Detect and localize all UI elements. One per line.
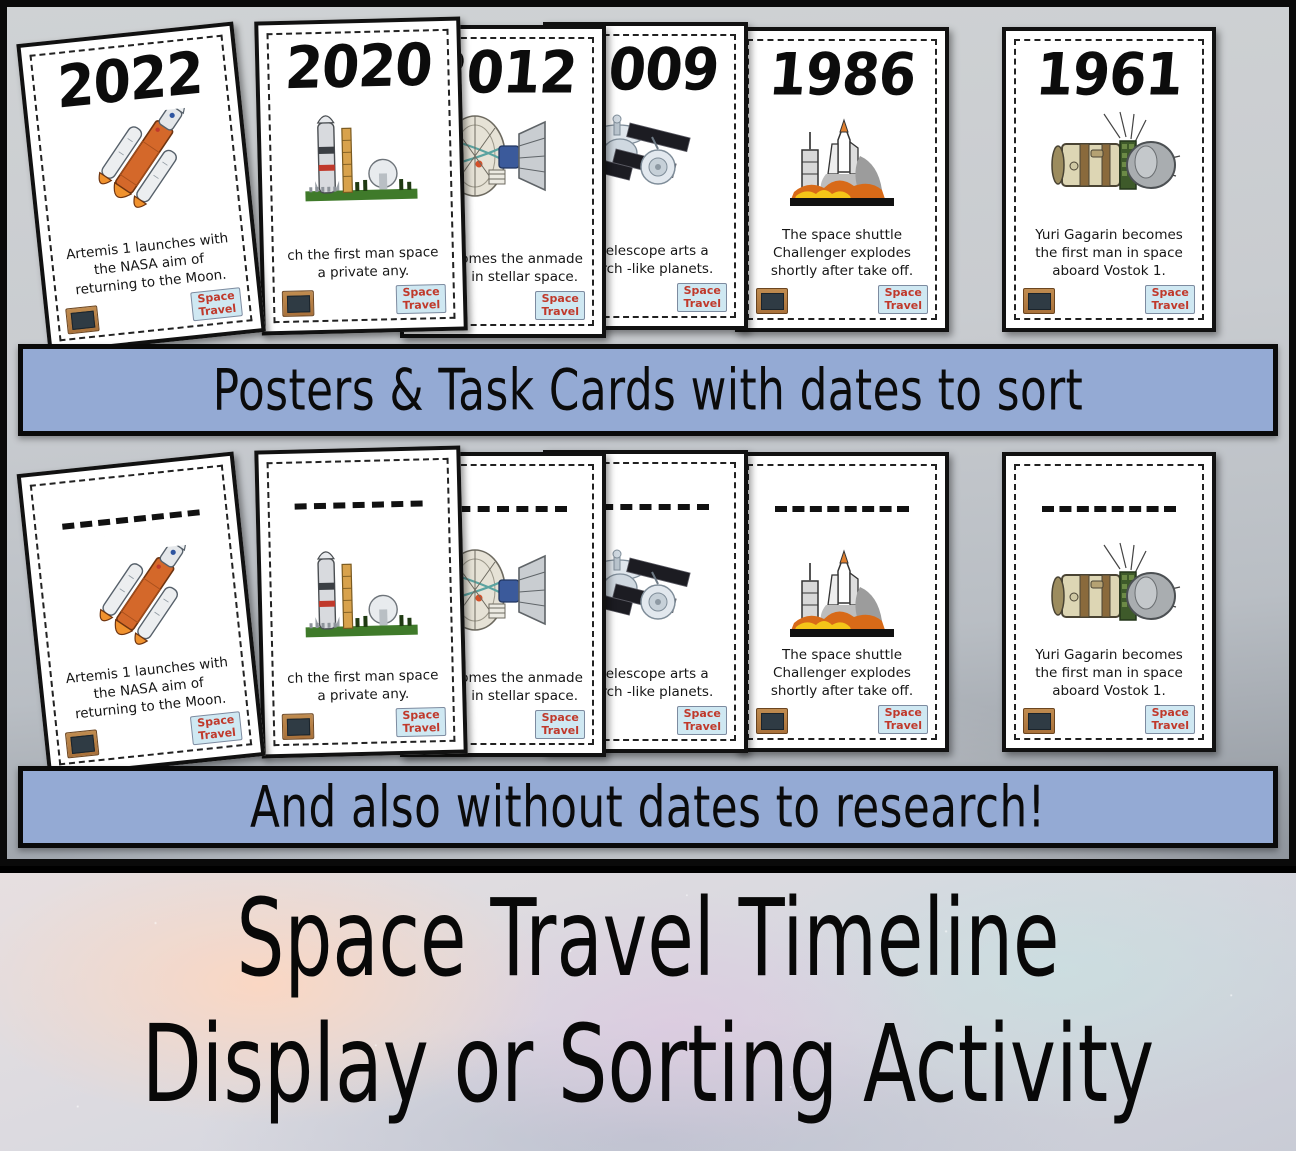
vostok-capsule-icon (1023, 538, 1195, 645)
publisher-logo-icon (65, 305, 100, 334)
card-year: 1986 (766, 47, 917, 104)
card-year: 2022 (57, 45, 203, 118)
product-title-line2: Display or Sorting Activity (32, 1013, 1263, 1120)
launch-pad-rocket-icon (277, 532, 444, 644)
topic-badge: Space Travel (396, 707, 446, 737)
card-description: Yuri Gagarin becomes the first man in sp… (1023, 227, 1195, 280)
task-card-blank-2020[interactable]: ch the first man space a private any. Sp… (254, 446, 467, 759)
banner-dated: Posters & Task Cards with dates to sort (18, 344, 1278, 436)
topic-badge: Space Travel (878, 285, 928, 314)
artemis-rocket-icon (46, 539, 232, 665)
artemis-rocket-icon (45, 102, 231, 228)
publisher-logo-icon (756, 708, 788, 734)
title-block: Space Travel Timeline Display or Sorting… (0, 866, 1296, 1151)
blank-date-line (62, 509, 199, 529)
task-card-dated-2020[interactable]: 2020 (254, 17, 468, 336)
topic-badge: Space Travel (677, 706, 727, 735)
vostok-capsule-icon (1023, 106, 1195, 214)
topic-badge: Space Travel (396, 284, 446, 314)
task-card-blank-2022[interactable]: Artemis 1 launches with the NASA aim of … (17, 451, 266, 778)
launch-pad-rocket-icon (277, 96, 444, 208)
banner-undated-label: And also without dates to research! (250, 773, 1046, 840)
publisher-logo-icon (282, 290, 315, 317)
card-year: 1961 (1033, 47, 1184, 104)
card-description: The space shuttle Challenger explodes sh… (756, 227, 928, 280)
preview-panel: 1961 (0, 0, 1296, 866)
publisher-logo-icon (1023, 708, 1055, 734)
blank-date-line (295, 500, 423, 509)
blank-date-line (775, 506, 909, 512)
banner-undated: And also without dates to research! (18, 766, 1278, 848)
topic-badge: Space Travel (191, 288, 243, 322)
product-cover: 1961 (0, 0, 1296, 1151)
topic-badge: Space Travel (535, 291, 585, 320)
card-description: Yuri Gagarin becomes the first man in sp… (1023, 647, 1195, 700)
blank-date-line (1042, 506, 1176, 512)
task-card-blank-1986[interactable]: The space shuttle Challenger explodes sh… (735, 452, 949, 752)
topic-badge: Space Travel (878, 705, 928, 734)
shuttle-launch-icon (756, 538, 928, 645)
topic-badge: Space Travel (1145, 705, 1195, 734)
task-card-dated-1986[interactable]: 1986 (735, 27, 949, 332)
topic-badge: Space Travel (677, 283, 727, 312)
topic-badge: Space Travel (1145, 285, 1195, 314)
task-card-dated-1961[interactable]: 1961 (1002, 27, 1216, 332)
publisher-logo-icon (65, 729, 100, 758)
publisher-logo-icon (756, 288, 788, 314)
banner-dated-label: Posters & Task Cards with dates to sort (213, 356, 1084, 423)
task-card-blank-1961[interactable]: Yuri Gagarin becomes the first man in sp… (1002, 452, 1216, 752)
topic-badge: Space Travel (535, 710, 585, 739)
topic-badge: Space Travel (190, 712, 242, 746)
card-description: ch the first man space a private any. (281, 244, 446, 284)
card-description: The space shuttle Challenger explodes sh… (756, 647, 928, 700)
product-title-line1: Space Travel Timeline (52, 887, 1244, 994)
card-description: ch the first man space a private any. (281, 667, 446, 707)
task-card-dated-2022[interactable]: 2022 (16, 21, 265, 354)
card-year: 2020 (283, 37, 433, 98)
shuttle-launch-icon (756, 106, 928, 214)
publisher-logo-icon (1023, 288, 1055, 314)
publisher-logo-icon (282, 713, 315, 740)
